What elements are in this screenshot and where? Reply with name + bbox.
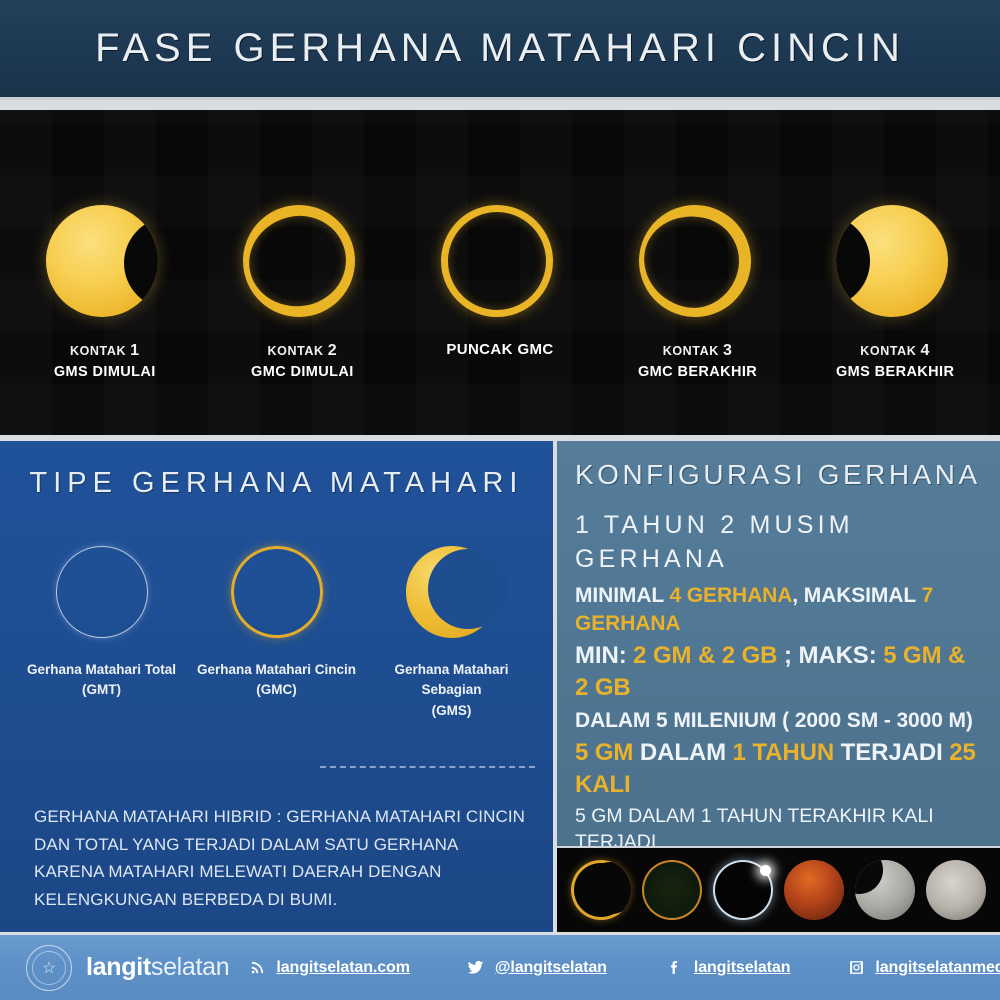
- phase-item-kontak-1: KONTAK 1 GMS DIMULAI: [6, 110, 204, 435]
- phase-contact-number: 4: [921, 342, 931, 359]
- phase-contact-label: KONTAK: [860, 344, 916, 358]
- header-bar: FASE GERHANA MATAHARI CINCIN: [0, 0, 1000, 100]
- phase-contact-line: KONTAK 3: [638, 339, 757, 362]
- phase-caption: KONTAK 1 GMS DIMULAI: [54, 339, 156, 383]
- phase-name: GMC BERAKHIR: [638, 362, 757, 383]
- phase-caption: PUNCAK GMC: [446, 339, 553, 361]
- config-line-minmaks2: MIN: 2 GM & 2 GB ; MAKS: 5 GM & 2 GB: [575, 640, 982, 704]
- phase-item-kontak-4: KONTAK 4 GMS BERAKHIR: [796, 110, 994, 435]
- phase-item-puncak: PUNCAK GMC: [401, 110, 599, 435]
- eclipse-type-annular: Gerhana Matahari Cincin (GMC): [189, 538, 364, 721]
- highlight-value: 5 GM: [575, 739, 633, 766]
- infographic-page: FASE GERHANA MATAHARI CINCIN KONTAK 1 GM…: [0, 0, 1000, 1000]
- social-label: langitselatanmedia: [875, 959, 1000, 977]
- footer-bar: ☆ langitselatan langitselatan.com @langi…: [0, 932, 1000, 1000]
- phase-name: GMC DIMULAI: [251, 362, 354, 383]
- eclipse-configuration-panel: KONFIGURASI GERHANA 1 TAHUN 2 MUSIM GERH…: [557, 438, 1000, 932]
- phase-name: GMS DIMULAI: [54, 362, 156, 383]
- eclipse-type-abbr: (GMS): [364, 701, 539, 721]
- photo-full-moon: [926, 860, 986, 920]
- annular-ring-icon: [243, 205, 361, 323]
- text-fragment: TERJADI: [834, 739, 949, 766]
- phase-caption: KONTAK 2 GMC DIMULAI: [251, 339, 354, 383]
- social-link-twitter[interactable]: @langitselatan: [466, 958, 607, 978]
- social-label: langitselatan: [694, 959, 791, 977]
- eclipse-type-label: Gerhana Matahari Total (GMT): [27, 660, 176, 701]
- phase-item-kontak-2: KONTAK 2 GMC DIMULAI: [204, 110, 402, 435]
- config-line-minmax: MINIMAL 4 GERHANA, MAKSIMAL 7 GERHANA: [575, 582, 982, 638]
- photo-annular-crescent: [571, 860, 631, 920]
- eclipse-type-label: Gerhana Matahari Sebagian (GMS): [364, 660, 539, 721]
- phase-contact-line: KONTAK 2: [251, 339, 354, 362]
- phase-contact-label: KONTAK: [70, 344, 126, 358]
- sun-with-bite-right-icon: [46, 205, 164, 323]
- eclipse-phases-section: KONTAK 1 GMS DIMULAI KONTAK 2 GMC DIMULA…: [0, 110, 1000, 435]
- hybrid-eclipse-text: GERHANA MATAHARI HIBRID : GERHANA MATAHA…: [34, 803, 527, 913]
- ring-total-icon: [56, 538, 148, 646]
- text-fragment: , MAKSIMAL: [792, 584, 921, 607]
- twitter-icon: [466, 958, 486, 978]
- eclipse-type-name: Gerhana Matahari Total: [27, 660, 176, 680]
- phase-name: GMS BERAKHIR: [836, 362, 954, 383]
- phase-contact-label: KONTAK: [268, 344, 324, 358]
- eclipse-types-list: Gerhana Matahari Total (GMT) Gerhana Mat…: [0, 538, 553, 721]
- eclipse-type-name: Gerhana Matahari Sebagian: [364, 660, 539, 701]
- facebook-icon: [665, 958, 685, 978]
- highlight-value: 2 GM & 2 GB: [633, 642, 777, 669]
- phase-caption: KONTAK 3 GMC BERAKHIR: [638, 339, 757, 383]
- sun-with-bite-left-icon: [836, 205, 954, 323]
- text-fragment: MIN:: [575, 642, 633, 669]
- eclipse-types-panel: TIPE GERHANA MATAHARI Gerhana Matahari T…: [0, 438, 557, 932]
- phase-contact-line: KONTAK 1: [54, 339, 156, 362]
- phase-item-kontak-3: KONTAK 3 GMC BERAKHIR: [599, 110, 797, 435]
- rss-icon: [247, 958, 267, 978]
- config-line-5gm: 5 GM DALAM 1 TAHUN TERJADI 25 KALI: [575, 737, 982, 801]
- phase-name: PUNCAK GMC: [446, 339, 553, 361]
- phase-contact-number: 1: [130, 342, 140, 359]
- photo-corona-diamond: [713, 860, 773, 920]
- brand-block: ☆ langitselatan: [0, 945, 229, 991]
- ring-annular-icon: [231, 538, 323, 646]
- divider-dashed: [320, 766, 535, 768]
- social-link-facebook[interactable]: langitselatan: [665, 958, 791, 978]
- phase-contact-label: KONTAK: [663, 344, 719, 358]
- brand-wordmark: langitselatan: [86, 953, 229, 982]
- eclipse-type-total: Gerhana Matahari Total (GMT): [14, 538, 189, 721]
- text-fragment: ; MAKS:: [777, 642, 883, 669]
- langitselatan-seal-icon: ☆: [26, 945, 72, 991]
- highlight-value: 4 GERHANA: [669, 584, 792, 607]
- eclipse-type-partial: Gerhana Matahari Sebagian (GMS): [364, 538, 539, 721]
- mid-section: TIPE GERHANA MATAHARI Gerhana Matahari T…: [0, 438, 1000, 932]
- config-line-musim: 1 TAHUN 2 MUSIM GERHANA: [575, 501, 982, 580]
- social-label: @langitselatan: [495, 959, 607, 977]
- text-fragment: MINIMAL: [575, 584, 669, 607]
- social-link-instagram[interactable]: langitselatanmedia: [846, 958, 1000, 978]
- text-fragment: DALAM: [633, 739, 732, 766]
- eclipse-type-label: Gerhana Matahari Cincin (GMC): [197, 660, 356, 701]
- highlight-value: 1 TAHUN: [733, 739, 835, 766]
- photo-partial-moon: [855, 860, 915, 920]
- eclipse-type-name: Gerhana Matahari Cincin: [197, 660, 356, 680]
- annular-ring-full-icon: [441, 205, 559, 323]
- crescent-icon: [406, 538, 498, 646]
- eclipse-type-abbr: (GMC): [197, 680, 356, 700]
- social-links: langitselatan.com @langitselatan langits…: [229, 958, 1000, 978]
- instagram-icon: [846, 958, 866, 978]
- phase-contact-number: 2: [328, 342, 338, 359]
- photo-dark-disc: [642, 860, 702, 920]
- social-link-website[interactable]: langitselatan.com: [247, 958, 409, 978]
- photo-blood-moon: [784, 860, 844, 920]
- annular-ring-icon: [639, 205, 757, 323]
- phase-row: KONTAK 1 GMS DIMULAI KONTAK 2 GMC DIMULA…: [0, 110, 1000, 435]
- config-line-milenium: DALAM 5 MILENIUM ( 2000 SM - 3000 M): [575, 707, 982, 735]
- brand-name-light: selatan: [151, 953, 230, 981]
- page-title: FASE GERHANA MATAHARI CINCIN: [95, 26, 905, 71]
- brand-name-bold: langit: [86, 953, 151, 981]
- eclipse-photo-strip: [557, 846, 1000, 932]
- phase-caption: KONTAK 4 GMS BERAKHIR: [836, 339, 954, 383]
- configuration-title: KONFIGURASI GERHANA: [557, 441, 1000, 491]
- phase-contact-line: KONTAK 4: [836, 339, 954, 362]
- eclipse-type-abbr: (GMT): [27, 680, 176, 700]
- phase-contact-number: 3: [723, 342, 733, 359]
- social-label: langitselatan.com: [276, 959, 409, 977]
- eclipse-types-title: TIPE GERHANA MATAHARI: [0, 441, 553, 500]
